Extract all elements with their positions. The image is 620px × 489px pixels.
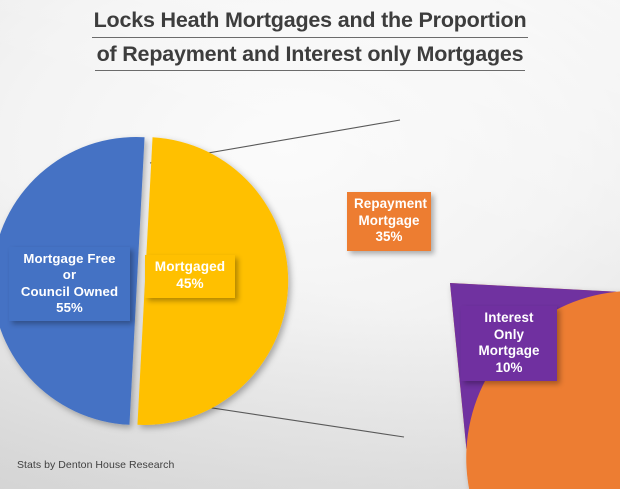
data-label-mortgaged-line1: Mortgaged <box>152 259 228 276</box>
data-label-interest-only-mortgage[interactable]: Interest Only Mortgage 10% <box>461 306 557 381</box>
data-label-repayment-value: 35% <box>354 229 424 246</box>
data-label-mortgage-free-value: 55% <box>16 300 123 316</box>
pie-of-pie-chart <box>0 0 620 489</box>
data-label-repayment-mortgage[interactable]: Repayment Mortgage 35% <box>347 192 431 251</box>
data-label-interest-only-value: 10% <box>468 360 550 377</box>
data-label-interest-only-line1: Interest Only <box>468 310 550 343</box>
data-label-mortgaged-value: 45% <box>152 276 228 293</box>
source-note: Stats by Denton House Research <box>17 459 174 471</box>
data-label-mortgage-free[interactable]: Mortgage Free or Council Owned 55% <box>9 247 130 321</box>
data-label-repayment-line2: Mortgage <box>354 213 424 230</box>
data-label-mortgaged[interactable]: Mortgaged 45% <box>145 255 235 298</box>
data-label-mortgage-free-line2: Council Owned <box>16 284 123 300</box>
chart-canvas: Locks Heath Mortgages and the Proportion… <box>0 0 620 489</box>
data-label-interest-only-line2: Mortgage <box>468 343 550 360</box>
data-label-mortgage-free-line1: Mortgage Free or <box>16 251 123 284</box>
data-label-repayment-line1: Repayment <box>354 196 424 213</box>
